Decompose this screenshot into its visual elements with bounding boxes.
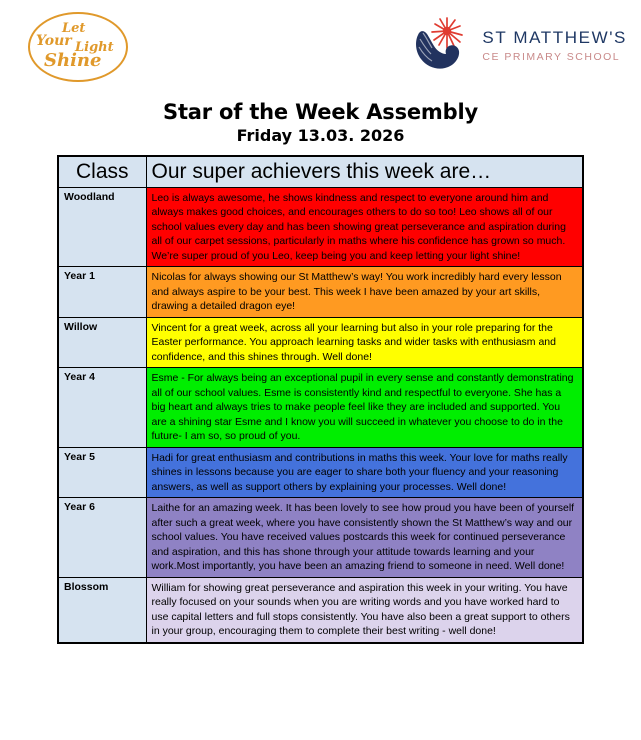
starburst-icon: [432, 18, 462, 48]
school-wordmark: ST MATTHEW'S CE PRIMARY SCHOOL: [482, 28, 627, 63]
page-title: Star of the Week Assembly: [0, 100, 641, 124]
badge-text-group: Let Your Light Shine: [28, 12, 128, 82]
school-logo: ST MATTHEW'S CE PRIMARY SCHOOL: [410, 14, 627, 76]
assembly-date: Friday 13.03. 2026: [0, 126, 641, 145]
table-row: Year 5Hadi for great enthusiasm and cont…: [58, 447, 583, 497]
school-name: ST MATTHEW'S: [482, 28, 627, 48]
let-your-light-shine-icon: Let Your Light Shine: [28, 12, 134, 88]
column-header-class: Class: [58, 156, 146, 188]
header-logo-band: Let Your Light Shine: [0, 0, 641, 96]
table-row: BlossomWilliam for showing great perseve…: [58, 577, 583, 642]
class-name-cell: Woodland: [58, 188, 146, 267]
class-name-cell: Year 4: [58, 368, 146, 447]
class-name-cell: Willow: [58, 317, 146, 367]
star-of-the-week-table: Class Our super achievers this week are……: [57, 155, 584, 644]
title-block: Star of the Week Assembly Friday 13.03. …: [0, 100, 641, 145]
table-header: Class Our super achievers this week are…: [58, 156, 583, 188]
table-row: Year 1Nicolas for always showing our St …: [58, 267, 583, 317]
table-row: Woodland Leo is always awesome, he shows…: [58, 188, 583, 267]
table-header-row: Class Our super achievers this week are…: [58, 156, 583, 188]
class-name-cell: Year 5: [58, 447, 146, 497]
column-header-achievers: Our super achievers this week are…: [146, 156, 583, 188]
star-of-the-week-table-container: Class Our super achievers this week are……: [57, 155, 584, 644]
table-body: Woodland Leo is always awesome, he shows…: [58, 188, 583, 643]
table-row: WillowVincent for a great week, across a…: [58, 317, 583, 367]
badge-line-4: Shine: [44, 52, 101, 70]
hand-and-starburst-icon: [410, 15, 474, 75]
class-name-cell: Blossom: [58, 577, 146, 642]
badge-line-2: Your: [36, 34, 72, 48]
achiever-description-cell: Nicolas for always showing our St Matthe…: [146, 267, 583, 317]
table-row: Year 4Esme - For always being an excepti…: [58, 368, 583, 447]
class-name-cell: Year 6: [58, 498, 146, 577]
achiever-description-cell: Hadi for great enthusiasm and contributi…: [146, 447, 583, 497]
achiever-description-cell: Leo is always awesome, he shows kindness…: [146, 188, 583, 267]
class-name-cell: Year 1: [58, 267, 146, 317]
school-subtitle: CE PRIMARY SCHOOL: [482, 51, 627, 63]
achiever-description-cell: Laithe for an amazing week. It has been …: [146, 498, 583, 577]
achiever-description-cell: Vincent for a great week, across all you…: [146, 317, 583, 367]
table-row: Year 6Laithe for an amazing week. It has…: [58, 498, 583, 577]
achiever-description-cell: William for showing great perseverance a…: [146, 577, 583, 642]
achiever-description-cell: Esme - For always being an exceptional p…: [146, 368, 583, 447]
